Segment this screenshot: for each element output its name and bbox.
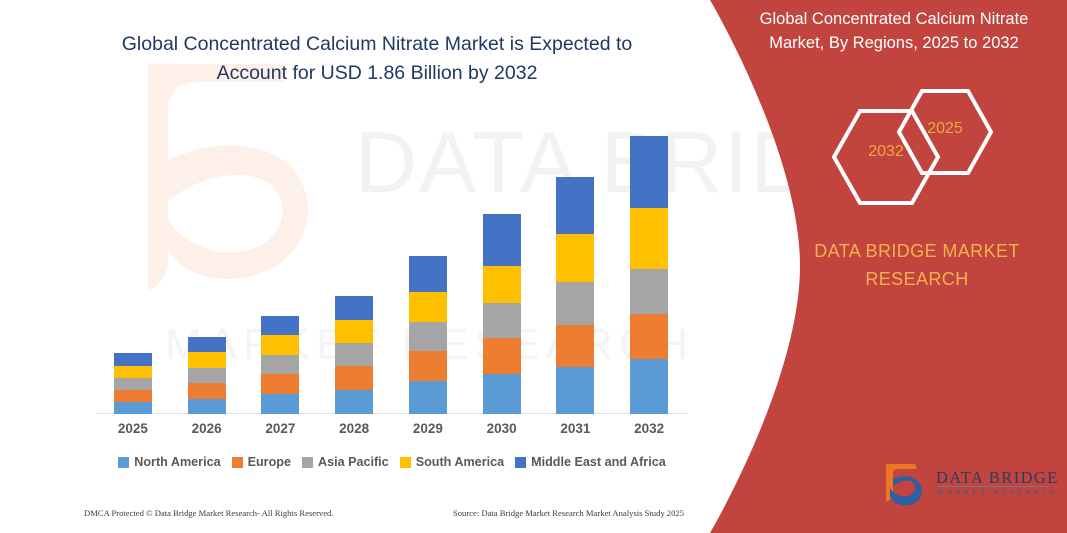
bar-segment-2032-middle-east-and-africa — [630, 136, 668, 208]
bar-segment-2032-europe — [630, 314, 668, 359]
legend-label: South America — [416, 455, 504, 469]
bar-segment-2032-south-america — [630, 208, 668, 269]
legend-item-europe[interactable]: Europe — [232, 455, 291, 469]
bar-segment-2026-south-america — [188, 352, 226, 368]
x-tick-2027: 2027 — [243, 421, 317, 436]
bar-segment-2026-asia-pacific — [188, 368, 226, 383]
logo-title: DATA BRIDGE — [936, 468, 1059, 488]
bar-2032 — [630, 136, 668, 414]
bar-segment-2031-middle-east-and-africa — [556, 177, 594, 234]
bar-segment-2025-north-america — [114, 402, 152, 414]
panel-logo: DATA BRIDGE MARKET RESEARCH — [880, 462, 1055, 510]
bar-2025 — [114, 353, 152, 414]
page-title: Global Concentrated Calcium Nitrate Mark… — [96, 30, 658, 89]
legend-swatch-icon — [515, 457, 526, 468]
bar-segment-2029-north-america — [409, 381, 447, 414]
side-panel: Global Concentrated Calcium Nitrate Mark… — [692, 0, 1067, 533]
footer-source: Source: Data Bridge Market Research Mark… — [453, 508, 684, 518]
bar-2029 — [409, 256, 447, 414]
bar-segment-2025-europe — [114, 390, 152, 402]
legend-swatch-icon — [118, 457, 129, 468]
legend-label: North America — [134, 455, 220, 469]
panel-title: Global Concentrated Calcium Nitrate Mark… — [734, 8, 1054, 56]
bar-segment-2025-asia-pacific — [114, 378, 152, 390]
footer: DMCA Protected © Data Bridge Market Rese… — [84, 508, 684, 518]
legend-swatch-icon — [302, 457, 313, 468]
bar-segment-2030-middle-east-and-africa — [483, 214, 521, 266]
panel-brand-line2: RESEARCH — [792, 266, 1042, 294]
bar-2027 — [261, 316, 299, 414]
legend-swatch-icon — [400, 457, 411, 468]
bar-segment-2027-middle-east-and-africa — [261, 316, 299, 335]
legend-label: Europe — [248, 455, 291, 469]
x-tick-2029: 2029 — [391, 421, 465, 436]
x-tick-2031: 2031 — [538, 421, 612, 436]
footer-copyright: DMCA Protected © Data Bridge Market Rese… — [84, 508, 334, 518]
bar-segment-2028-south-america — [335, 320, 373, 343]
bar-segment-2031-south-america — [556, 234, 594, 282]
x-tick-2030: 2030 — [465, 421, 539, 436]
bar-segment-2025-middle-east-and-africa — [114, 353, 152, 366]
bar-segment-2026-europe — [188, 383, 226, 399]
bar-segment-2029-asia-pacific — [409, 322, 447, 351]
bar-segment-2025-south-america — [114, 366, 152, 378]
chart-legend: North AmericaEuropeAsia PacificSouth Ame… — [96, 455, 688, 469]
bar-segment-2029-middle-east-and-africa — [409, 256, 447, 292]
bar-segment-2027-north-america — [261, 394, 299, 414]
legend-item-middle-east-and-africa[interactable]: Middle East and Africa — [515, 455, 666, 469]
bar-segment-2027-asia-pacific — [261, 355, 299, 374]
bar-2030 — [483, 214, 521, 414]
hexagon-2025-label: 2025 — [895, 120, 995, 138]
infographic-canvas: DATA BRIDGE MARKET RESEARCH Global Conce… — [0, 0, 1067, 533]
bar-2028 — [335, 296, 373, 414]
bar-segment-2028-north-america — [335, 390, 373, 414]
bar-segment-2030-europe — [483, 338, 521, 374]
panel-brand-line1: DATA BRIDGE MARKET — [792, 238, 1042, 266]
bar-segment-2029-south-america — [409, 292, 447, 322]
legend-item-north-america[interactable]: North America — [118, 455, 220, 469]
legend-item-south-america[interactable]: South America — [400, 455, 504, 469]
logo-subtitle: MARKET RESEARCH — [937, 488, 1059, 497]
bar-segment-2032-north-america — [630, 359, 668, 414]
bar-segment-2028-europe — [335, 366, 373, 390]
stacked-bar-chart — [96, 100, 686, 414]
x-tick-2025: 2025 — [96, 421, 170, 436]
x-tick-2026: 2026 — [170, 421, 244, 436]
x-tick-2032: 2032 — [612, 421, 686, 436]
bar-segment-2032-asia-pacific — [630, 269, 668, 314]
bar-segment-2028-asia-pacific — [335, 343, 373, 366]
data-bridge-b-logo-icon — [880, 462, 930, 508]
bar-segment-2028-middle-east-and-africa — [335, 296, 373, 320]
bar-segment-2026-middle-east-and-africa — [188, 337, 226, 352]
x-axis-labels: 20252026202720282029203020312032 — [96, 421, 688, 443]
bar-segment-2031-asia-pacific — [556, 282, 594, 325]
legend-label: Asia Pacific — [318, 455, 389, 469]
bar-segment-2026-north-america — [188, 399, 226, 414]
x-tick-2028: 2028 — [317, 421, 391, 436]
bar-segment-2030-asia-pacific — [483, 303, 521, 338]
panel-brand: DATA BRIDGE MARKET RESEARCH — [792, 238, 1042, 294]
legend-swatch-icon — [232, 457, 243, 468]
bar-segment-2031-north-america — [556, 367, 594, 414]
bar-segment-2027-europe — [261, 374, 299, 394]
legend-label: Middle East and Africa — [531, 455, 666, 469]
bar-2026 — [188, 337, 226, 414]
bar-segment-2029-europe — [409, 351, 447, 381]
bar-segment-2031-europe — [556, 325, 594, 367]
legend-item-asia-pacific[interactable]: Asia Pacific — [302, 455, 389, 469]
bar-2031 — [556, 177, 594, 414]
bar-segment-2030-north-america — [483, 374, 521, 414]
bar-segment-2027-south-america — [261, 335, 299, 355]
bar-segment-2030-south-america — [483, 266, 521, 303]
